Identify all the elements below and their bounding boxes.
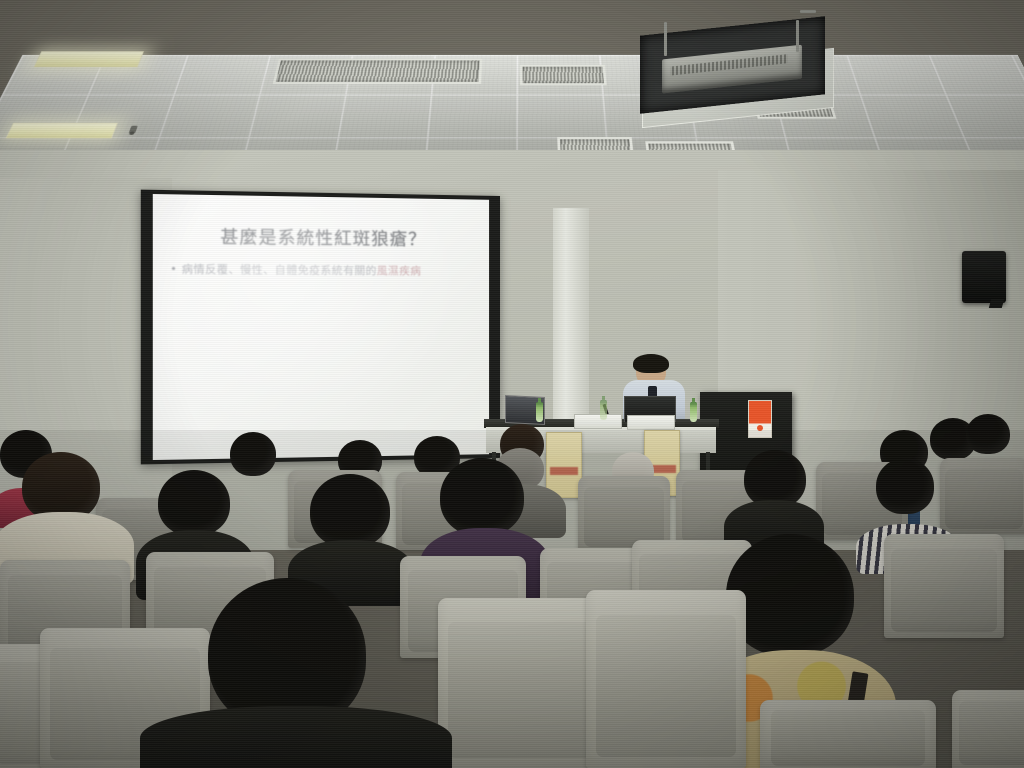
chair-r1-5[interactable]: [760, 700, 936, 768]
projector-arm-3: [800, 10, 816, 13]
structural-column: [553, 208, 589, 433]
slide-bullet-text: 病情反覆、慢性、自體免疫系統有關的: [182, 263, 377, 277]
water-bottle-2: [690, 402, 697, 422]
event-banner-left: [546, 432, 582, 498]
hvac-vent-long: [273, 59, 483, 84]
chair-r2-6[interactable]: [884, 534, 1004, 638]
water-bottle-3: [600, 400, 607, 420]
projector-arm-2: [796, 20, 799, 52]
name-card-right: [627, 415, 675, 430]
ceiling-light-panel-1: [33, 51, 144, 67]
event-banner-left-block: [550, 467, 578, 475]
projection-screen-surface: 甚麼是系統性紅斑狼瘡？ •病情反覆、慢性、自體免疫系統有關的風濕疾病: [153, 194, 489, 460]
attendee-center-mid: [310, 474, 390, 548]
slide-title: 甚麼是系統性紅斑狼瘡？: [153, 221, 489, 251]
wall-mounted-loudspeaker: [962, 251, 1006, 303]
hvac-vent-square-1: [520, 65, 607, 85]
slide-bullet-line: •病情反覆、慢性、自體免疫系統有關的風濕疾病: [170, 261, 479, 279]
attendee-striped-shirt-head: [876, 458, 934, 514]
chair-r1-3[interactable]: [438, 598, 608, 768]
ceiling-projector: [662, 45, 802, 94]
chair-r1-6[interactable]: [952, 690, 1024, 768]
attendee-foreground-center: [140, 706, 452, 768]
orange-logo-plaque: [748, 400, 772, 438]
water-bottle-1: [536, 402, 543, 422]
chair-r1-4[interactable]: [586, 590, 746, 768]
attendee-right-back-3: [966, 414, 1010, 454]
chair-r3-7[interactable]: [940, 458, 1024, 534]
projector-arm-1: [664, 22, 667, 56]
name-card-left: [574, 414, 622, 429]
attendee-center-curly: [440, 458, 524, 536]
projection-screen: 甚麼是系統性紅斑狼瘡？ •病情反覆、慢性、自體免疫系統有關的風濕疾病: [141, 190, 500, 465]
bullet-marker: •: [170, 263, 177, 276]
lecture-hall-photo: 甚麼是系統性紅斑狼瘡？ •病情反覆、慢性、自體免疫系統有關的風濕疾病: [0, 0, 1024, 768]
presenter-hair: [633, 354, 669, 373]
attendee-back-left-1: [230, 432, 276, 476]
ceiling-light-panel-2: [5, 123, 117, 139]
slide-bullet-highlight: 風濕疾病: [377, 265, 421, 277]
attendee-mid-left: [158, 470, 230, 536]
